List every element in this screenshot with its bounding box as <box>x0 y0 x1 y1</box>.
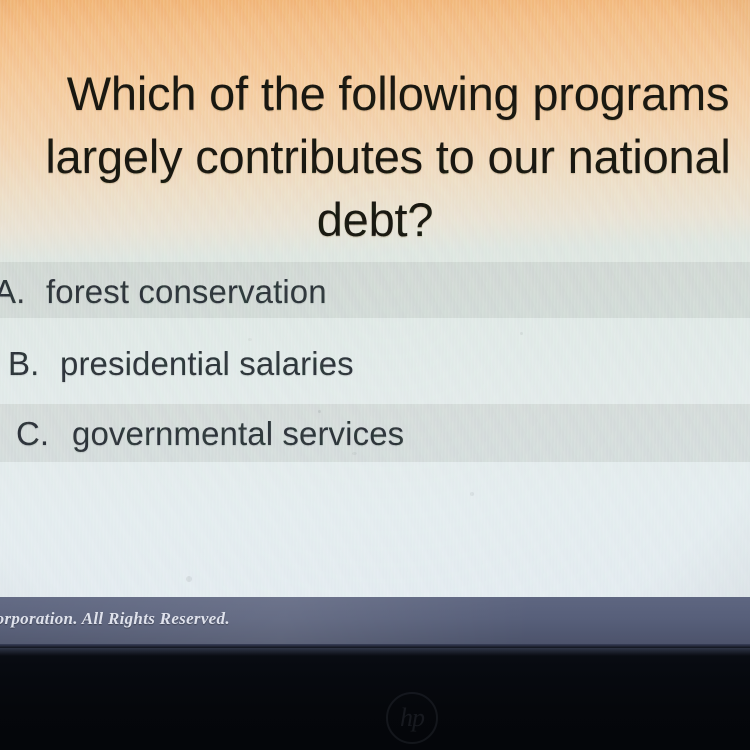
option-c-label: governmental services <box>72 415 404 453</box>
dust-speck <box>318 410 321 413</box>
bezel-top-sheen <box>0 648 750 656</box>
option-a-marker: A. <box>0 273 46 311</box>
copyright-text: Corporation. All Rights Reserved. <box>0 609 230 629</box>
answer-option-c[interactable]: C. governmental services <box>0 414 750 454</box>
option-c-marker: C. <box>16 415 72 453</box>
option-b-label: presidential salaries <box>60 345 354 383</box>
answer-option-b[interactable]: B. presidential salaries <box>0 344 750 384</box>
screen-content-area: Which of the following programs largely … <box>0 0 750 648</box>
copyright-footer-bar: Corporation. All Rights Reserved. <box>0 597 750 646</box>
question-text: Which of the following programs largely … <box>0 62 750 251</box>
dust-speck <box>470 492 474 496</box>
hp-logo-icon: hp <box>386 692 438 744</box>
dust-speck <box>520 332 523 335</box>
question-line-2: largely contributes to our national <box>0 125 750 188</box>
laptop-screen-photo: Which of the following programs largely … <box>0 0 750 750</box>
dust-speck <box>352 452 357 455</box>
question-line-3: debt? <box>0 188 750 251</box>
dust-speck <box>186 576 192 582</box>
option-b-marker: B. <box>8 345 60 383</box>
question-line-1: Which of the following programs <box>0 62 750 125</box>
laptop-bezel <box>0 648 750 750</box>
option-a-label: forest conservation <box>46 273 327 311</box>
answer-option-a[interactable]: A. forest conservation <box>0 272 750 312</box>
dust-speck <box>248 338 252 341</box>
